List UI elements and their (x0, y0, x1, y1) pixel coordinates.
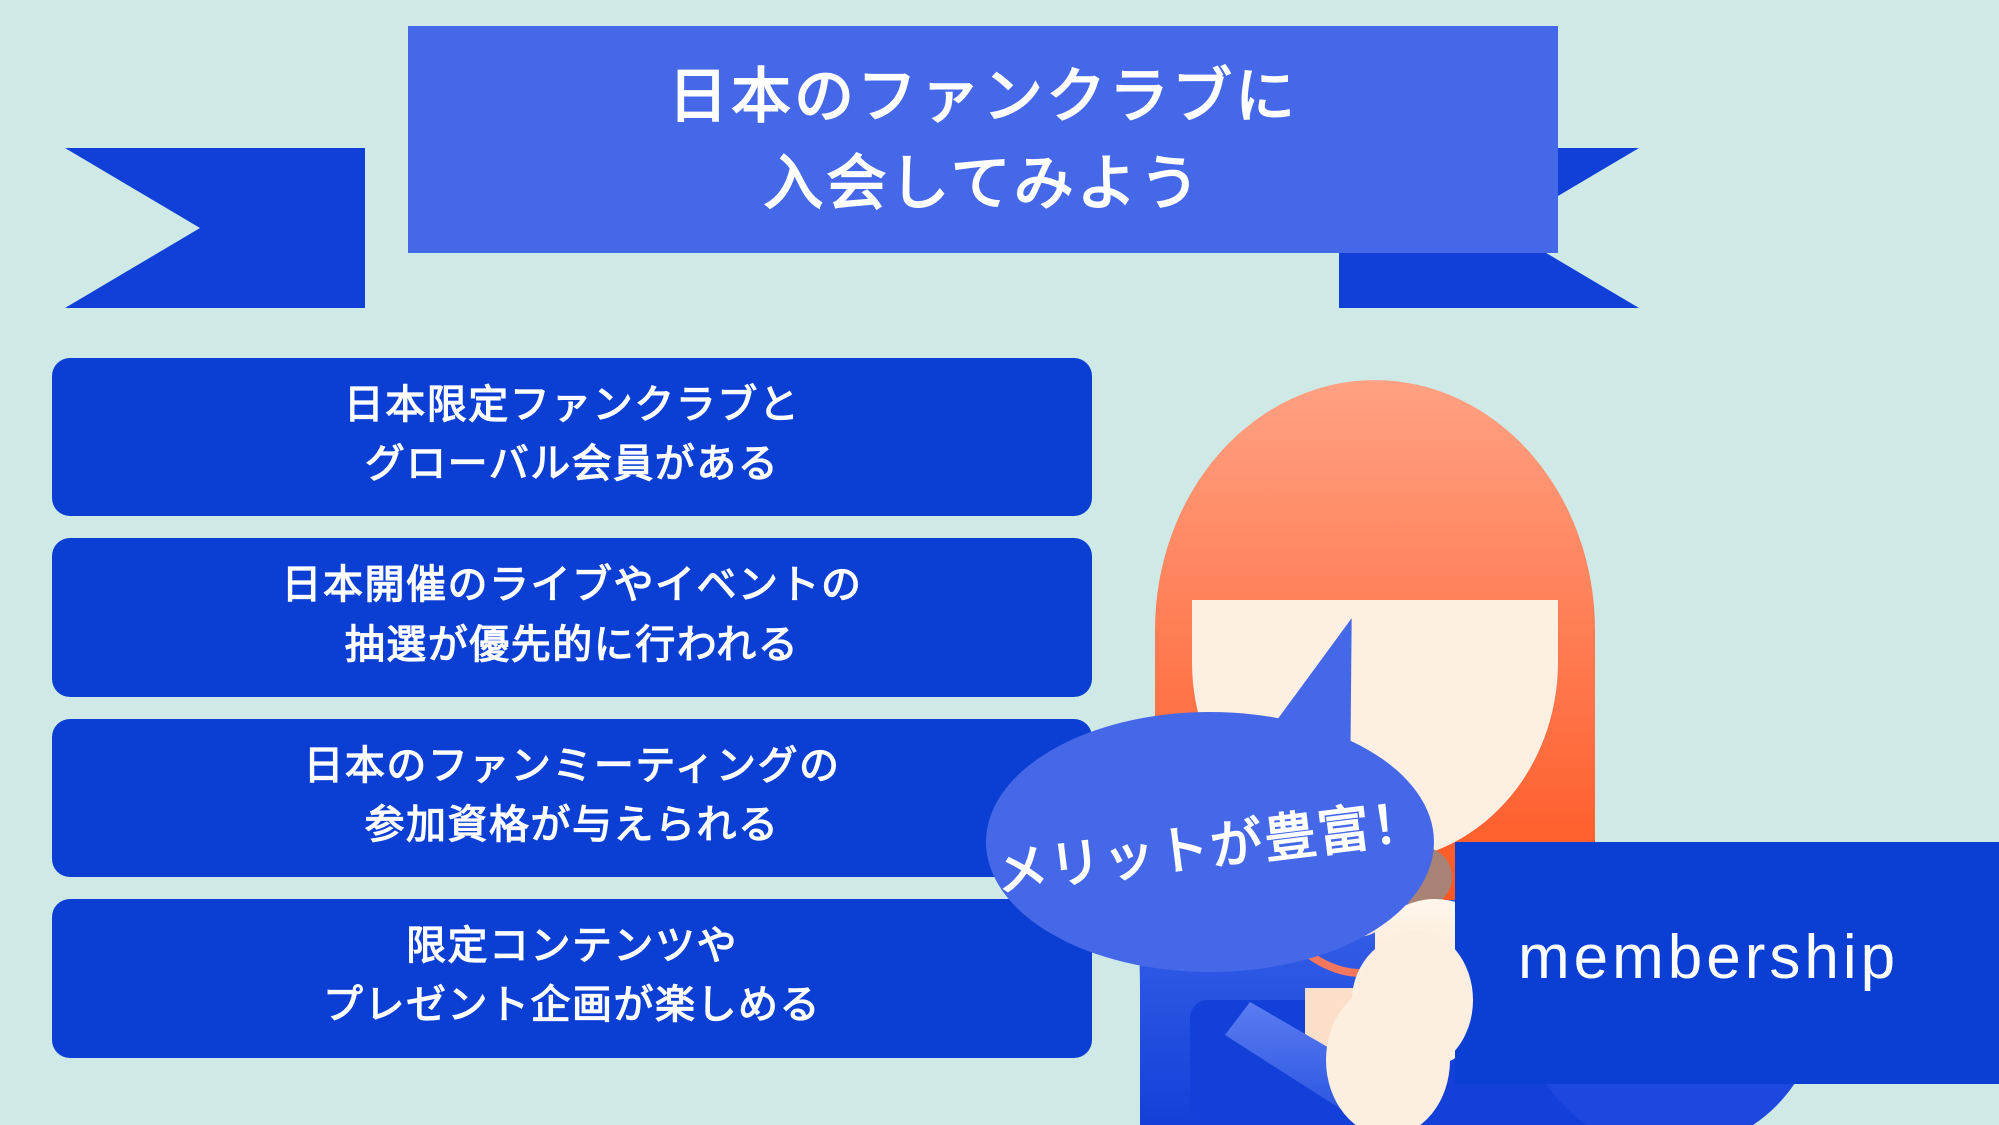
membership-card: membership (1455, 842, 1999, 1084)
merit-speech-bubble: メリットが豊富！ (986, 712, 1434, 972)
ribbon-body: 日本のファンクラブに 入会してみよう (408, 26, 1558, 253)
benefit-card-list: 日本限定ファンクラブと グローバル会員がある 日本開催のライブやイベントの 抽選… (52, 358, 1092, 1080)
benefit-card-1: 日本限定ファンクラブと グローバル会員がある (52, 358, 1092, 516)
speech-bubble-text: メリットが豊富！ (972, 686, 1448, 999)
poster-canvas: 日本のファンクラブに 入会してみよう 日本限定ファンクラブと グローバル会員があ… (0, 0, 1999, 1125)
benefit-card-1-line-1: 日本限定ファンクラブと (78, 376, 1066, 435)
ribbon-tail-left (65, 148, 365, 308)
svg-text:membership: membership (1518, 923, 1899, 992)
benefit-card-3-line-1: 日本のファンミーティングの (78, 737, 1066, 796)
benefit-card-4-line-2: プレゼント企画が楽しめる (78, 976, 1066, 1035)
title-line-1: 日本のファンクラブに (668, 53, 1298, 140)
benefit-card-3-line-2: 参加資格が与えられる (78, 796, 1066, 855)
benefit-card-1-line-2: グローバル会員がある (78, 435, 1066, 494)
benefit-card-2-line-2: 抽選が優先的に行われる (78, 616, 1066, 675)
benefit-card-3: 日本のファンミーティングの 参加資格が与えられる (52, 719, 1092, 877)
benefit-card-4-line-1: 限定コンテンツや (78, 917, 1066, 976)
benefit-card-2: 日本開催のライブやイベントの 抽選が優先的に行われる (52, 538, 1092, 696)
title-ribbon: 日本のファンクラブに 入会してみよう (0, 0, 1999, 270)
title-line-2: 入会してみよう (763, 140, 1202, 227)
benefit-card-2-line-1: 日本開催のライブやイベントの (78, 556, 1066, 615)
benefit-card-4: 限定コンテンツや プレゼント企画が楽しめる (52, 899, 1092, 1057)
